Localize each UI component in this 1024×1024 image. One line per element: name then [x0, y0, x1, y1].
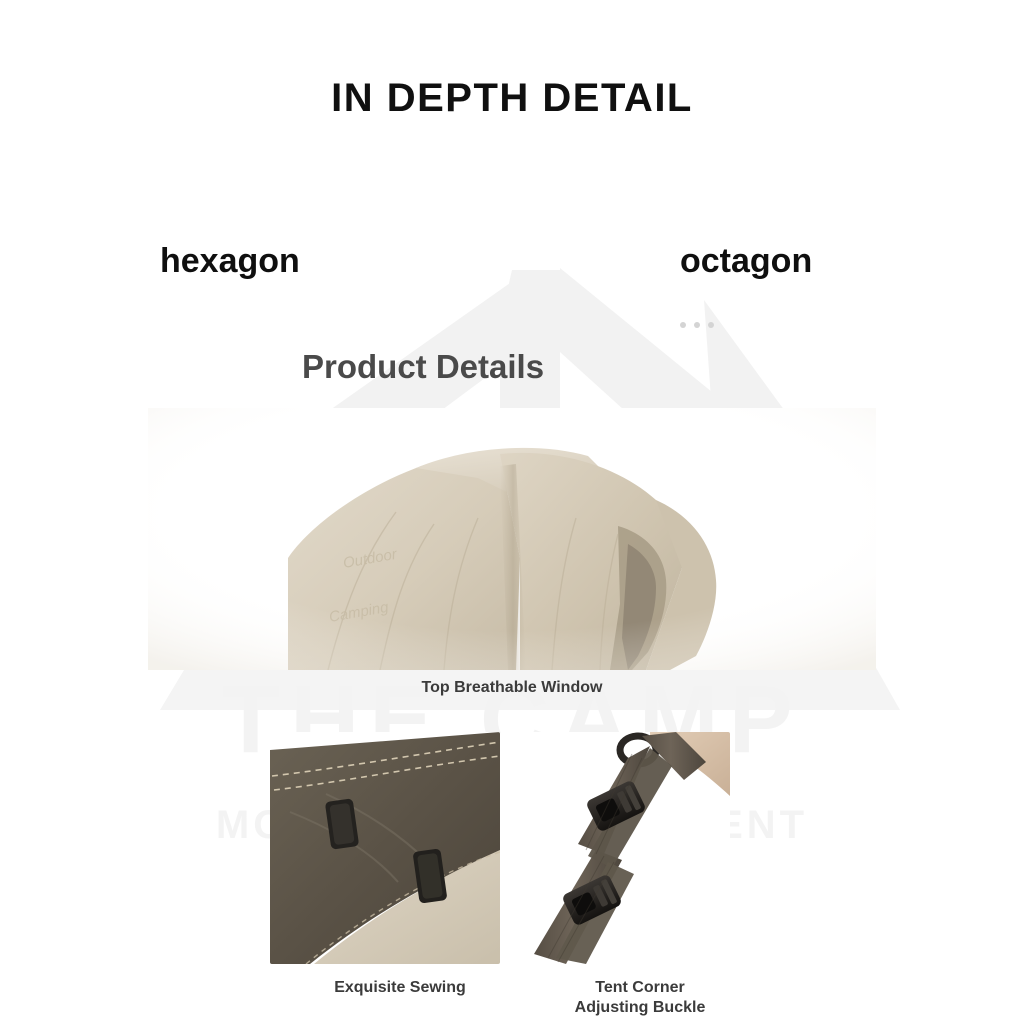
- shape-label-hexagon: hexagon: [160, 242, 300, 281]
- dot-icon: [694, 322, 700, 328]
- caption-line-2: Adjusting Buckle: [520, 998, 760, 1018]
- caption-top-breathable-window: Top Breathable Window: [148, 678, 876, 698]
- caption-line-1: Tent Corner: [520, 978, 760, 998]
- product-detail-page: THE CAMP MORE THAN JUST A TENT IN DEPTH …: [0, 0, 1024, 1024]
- section-title: Product Details: [302, 348, 544, 386]
- photo-top-breathable-window: Outdoor Camping: [148, 408, 876, 670]
- ellipsis-dots: [680, 322, 714, 328]
- photo-tent-corner-adjusting-buckle: [500, 732, 730, 964]
- page-title: IN DEPTH DETAIL: [0, 76, 1024, 121]
- dot-icon: [680, 322, 686, 328]
- caption-exquisite-sewing: Exquisite Sewing: [250, 978, 550, 998]
- photo-exquisite-sewing: [270, 732, 500, 964]
- shape-label-octagon: octagon: [680, 242, 812, 281]
- caption-tent-corner-adjusting-buckle: Tent Corner Adjusting Buckle: [520, 978, 760, 1018]
- dot-icon: [708, 322, 714, 328]
